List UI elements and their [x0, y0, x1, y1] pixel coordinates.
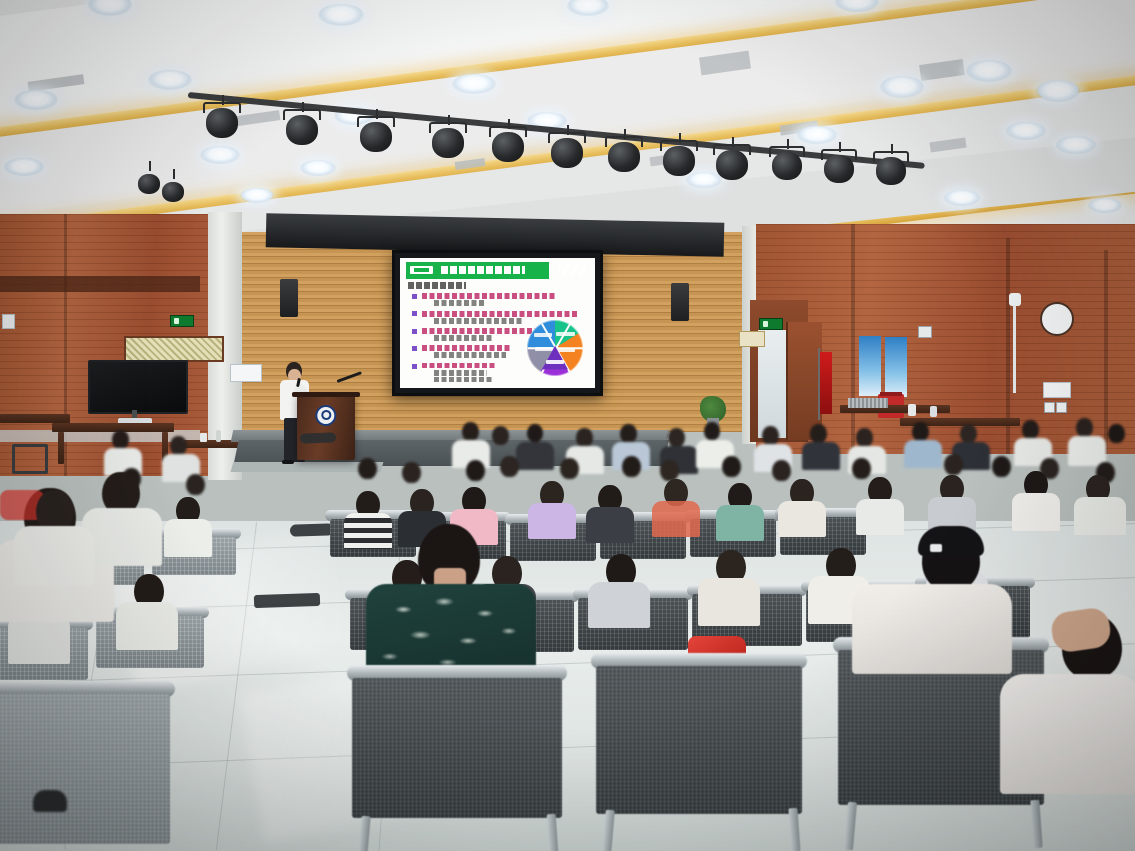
- baseball-cap: [918, 526, 984, 556]
- seat-leg: [602, 810, 615, 851]
- ceiling-downlight: [1088, 198, 1122, 213]
- seat[interactable]: [0, 694, 170, 844]
- stage-spotlight: [876, 157, 906, 185]
- audience-head: [762, 426, 779, 445]
- wall-sensor-icon: [918, 326, 932, 338]
- audience-body: [856, 499, 904, 535]
- audience-head: [810, 424, 827, 443]
- stage-spotlight: [824, 155, 854, 183]
- cap-man-shirt: [852, 584, 1012, 674]
- projection-screen: [392, 250, 603, 396]
- loudspeaker: [280, 279, 298, 317]
- seat-leg: [844, 802, 857, 851]
- ceiling-downlight: [318, 4, 364, 26]
- stage-spotlight: [432, 128, 464, 158]
- cap-strap: [930, 544, 942, 552]
- audience-body: [586, 507, 634, 543]
- wall-switch-icon[interactable]: [2, 314, 15, 329]
- auditorium-photo: [0, 0, 1135, 851]
- slide-header-title: [441, 266, 525, 274]
- ceiling-downlight: [797, 126, 837, 144]
- audience-head: [1022, 420, 1039, 439]
- stage-spotlight: [138, 174, 160, 194]
- stage-spotlight: [551, 138, 583, 168]
- audience-head: [462, 422, 479, 441]
- slide-bullet: [412, 363, 498, 383]
- audience-head: [668, 428, 685, 447]
- loudspeaker: [671, 283, 689, 321]
- audience-body: [14, 526, 94, 586]
- ceiling-downlight: [148, 70, 192, 90]
- ceiling-downlight: [1056, 136, 1096, 154]
- audience-head: [170, 436, 187, 455]
- ceiling-downlight: [1006, 122, 1046, 140]
- seat[interactable]: [596, 666, 802, 814]
- slide-bullet: [412, 293, 552, 306]
- wall-ledge: [0, 276, 200, 292]
- stage-spotlight: [162, 182, 184, 202]
- ceiling-downlight: [14, 90, 58, 110]
- stage-spotlight: [608, 142, 640, 172]
- stage-spotlight: [716, 150, 748, 180]
- ceiling-downlight: [880, 76, 924, 98]
- ceiling-downlight: [4, 158, 44, 176]
- audience-head: [912, 422, 929, 441]
- exit-sign: [759, 318, 783, 330]
- audience-body: [1012, 493, 1060, 531]
- audience-body: [778, 501, 826, 537]
- ceiling-downlight: [1036, 80, 1080, 102]
- exit-sign: [170, 315, 194, 327]
- stage-spotlight: [663, 146, 695, 176]
- audience-body: [652, 501, 700, 537]
- wall-pole: [1013, 305, 1016, 393]
- wall-poster: [885, 337, 907, 397]
- audience-head: [704, 422, 720, 440]
- window-vent: [739, 331, 765, 347]
- slide-subtitle: [408, 282, 467, 289]
- ceiling-downlight: [944, 190, 980, 206]
- audience-body: [1074, 497, 1126, 535]
- bag-on-floor: [33, 790, 67, 812]
- wall-poster: [859, 336, 881, 396]
- slide-bullet: [412, 345, 510, 358]
- ceiling-downlight: [240, 188, 274, 203]
- audience-head: [527, 424, 543, 442]
- audience-body: [82, 508, 162, 566]
- audience-body: [716, 505, 764, 541]
- stage-spotlight: [492, 132, 524, 162]
- audience-head: [620, 424, 637, 443]
- wheel-diagram: [527, 320, 584, 377]
- stage-spotlight: [360, 122, 392, 152]
- stage-spotlight: [772, 152, 802, 180]
- ceiling: [0, 0, 1135, 250]
- presentation-slide: [400, 258, 595, 388]
- audience-head: [1076, 418, 1093, 437]
- audience-head: [1108, 424, 1125, 443]
- audience-body: [528, 503, 576, 539]
- ceiling-downlight: [452, 74, 496, 94]
- audience-body: [1000, 674, 1135, 794]
- seat-leg: [1030, 800, 1042, 849]
- stage-spotlight: [286, 115, 318, 145]
- audience-head: [112, 430, 129, 449]
- audience-head: [856, 428, 873, 447]
- audience-front-rows: [0, 620, 1135, 851]
- pillar-notice-sign: [230, 364, 262, 382]
- seat[interactable]: [352, 678, 562, 818]
- audience-left-block: [0, 460, 260, 640]
- audience-head: [492, 426, 509, 445]
- podium-top: [292, 392, 360, 397]
- seat-leg: [358, 816, 370, 851]
- audience-body: [698, 578, 760, 626]
- ceiling-downlight: [200, 146, 240, 164]
- wall-clock: [1040, 302, 1074, 336]
- seat-leg: [547, 814, 559, 851]
- slide-header-slashes: [558, 264, 587, 278]
- audience-head: [960, 424, 977, 443]
- seat-leg: [788, 808, 800, 851]
- ceiling-downlight: [966, 60, 1012, 82]
- slide-bullet: [412, 328, 533, 341]
- left-window: [124, 336, 224, 362]
- audience-head: [576, 428, 593, 447]
- stage-spotlight: [206, 108, 238, 138]
- ceiling-downlight: [300, 160, 336, 176]
- wall-notice-sign: [1043, 382, 1071, 398]
- slide-header: [406, 262, 589, 279]
- slide-header-icon: [410, 266, 434, 275]
